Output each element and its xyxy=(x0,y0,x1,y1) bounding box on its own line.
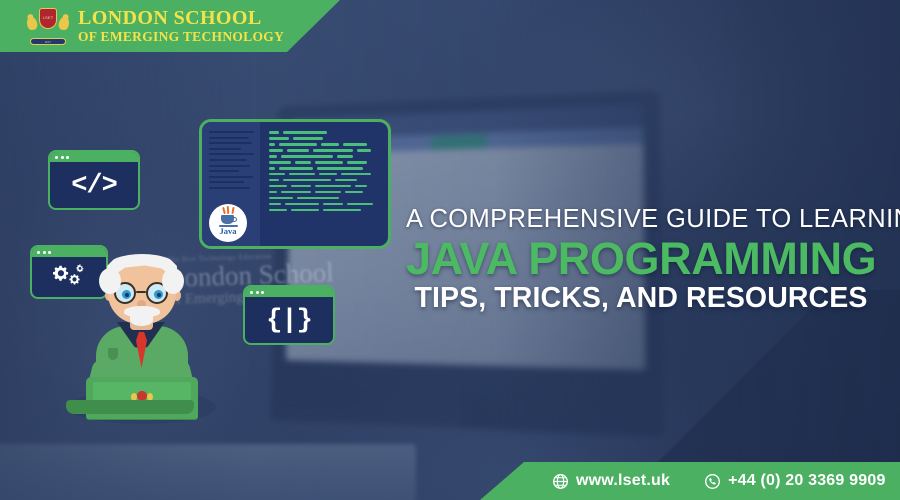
sidebar-line xyxy=(209,159,247,161)
laptop-base xyxy=(66,400,194,414)
headline-line-2: JAVA PROGRAMMING xyxy=(406,236,876,282)
code-line xyxy=(269,161,380,164)
brand-line-2: OF EMERGING TECHNOLOGY xyxy=(78,30,284,44)
java-coffee-cup-icon: Java xyxy=(209,204,247,242)
window-dot xyxy=(61,156,64,159)
java-badge-label: Java xyxy=(220,227,237,236)
code-line xyxy=(269,209,380,212)
code-line xyxy=(269,203,380,206)
code-tag-card: </> xyxy=(48,150,140,210)
window-dot xyxy=(43,251,46,254)
background-bottom-shade xyxy=(0,380,460,500)
sidebar-line xyxy=(209,181,244,183)
window-dot xyxy=(48,251,51,254)
cup-saucer xyxy=(219,225,238,227)
sidebar-line xyxy=(209,142,252,144)
headline-line-1: A COMPREHENSIVE GUIDE TO LEARNING xyxy=(406,206,876,234)
card-titlebar xyxy=(50,152,138,162)
globe-icon xyxy=(552,473,569,490)
code-line xyxy=(269,185,380,188)
footer-phone[interactable]: +44 (0) 20 3369 9909 xyxy=(704,472,885,490)
code-line xyxy=(269,191,380,194)
code-line xyxy=(269,167,380,170)
header-brand-band: LONDON SCHOOL OF EMERGING TECHNOLOGY xyxy=(0,0,340,52)
code-line xyxy=(269,179,380,182)
code-line xyxy=(269,155,380,158)
crest-shield xyxy=(39,8,57,29)
sidebar-line xyxy=(209,187,250,189)
character-lapel-badge xyxy=(108,348,118,360)
coffee-cup-glyph xyxy=(219,212,238,225)
editor-sidebar: Java xyxy=(202,122,260,246)
footer-website[interactable]: www.lset.uk xyxy=(552,472,670,490)
steam-line xyxy=(231,207,234,214)
brand-line-1: LONDON SCHOOL xyxy=(78,8,284,28)
sidebar-line xyxy=(209,148,241,150)
brand-text: LONDON SCHOOL OF EMERGING TECHNOLOGY xyxy=(78,8,284,44)
headline-line-3: TIPS, TRICKS, AND RESOURCES xyxy=(406,284,876,314)
editor-code-area xyxy=(260,122,388,246)
steam-line xyxy=(222,207,226,214)
headline-block: A COMPREHENSIVE GUIDE TO LEARNING JAVA P… xyxy=(406,206,876,314)
code-line xyxy=(269,143,380,146)
crest-lion-right xyxy=(58,16,71,31)
sidebar-line xyxy=(209,165,250,167)
code-editor-window: Java xyxy=(199,119,391,249)
footer-website-label: www.lset.uk xyxy=(576,472,670,490)
sidebar-line xyxy=(209,153,254,155)
code-line xyxy=(269,173,380,176)
code-tag-icon: </> xyxy=(50,162,138,209)
window-dot xyxy=(256,291,259,294)
footer-phone-label: +44 (0) 20 3369 9909 xyxy=(728,472,885,490)
window-dot xyxy=(66,156,69,159)
window-dot xyxy=(37,251,40,254)
window-dot xyxy=(261,291,264,294)
steam-line xyxy=(227,206,230,214)
character-eye-right xyxy=(154,290,163,299)
professor-illustration xyxy=(74,252,209,432)
character-beard xyxy=(130,314,153,326)
sidebar-line xyxy=(209,170,239,172)
footer-contact-band: www.lset.uk +44 (0) 20 3369 9909 xyxy=(480,462,900,500)
lset-crest-icon xyxy=(26,6,70,46)
glasses-bridge xyxy=(136,291,146,293)
phone-icon xyxy=(704,473,721,490)
sidebar-line xyxy=(209,131,254,133)
crest-banner xyxy=(30,38,66,45)
card-titlebar xyxy=(245,287,333,297)
window-dot xyxy=(250,291,253,294)
cup-handle xyxy=(232,217,237,222)
crest-lion-left xyxy=(26,16,39,31)
sidebar-line xyxy=(209,176,253,178)
curly-braces-icon: {|} xyxy=(245,297,333,344)
sidebar-line xyxy=(209,137,249,139)
code-line xyxy=(269,131,380,134)
character-eye-left xyxy=(122,290,131,299)
code-line xyxy=(269,137,380,140)
code-line xyxy=(269,197,380,200)
window-dot xyxy=(55,156,58,159)
braces-card: {|} xyxy=(243,285,335,345)
code-line xyxy=(269,149,380,152)
